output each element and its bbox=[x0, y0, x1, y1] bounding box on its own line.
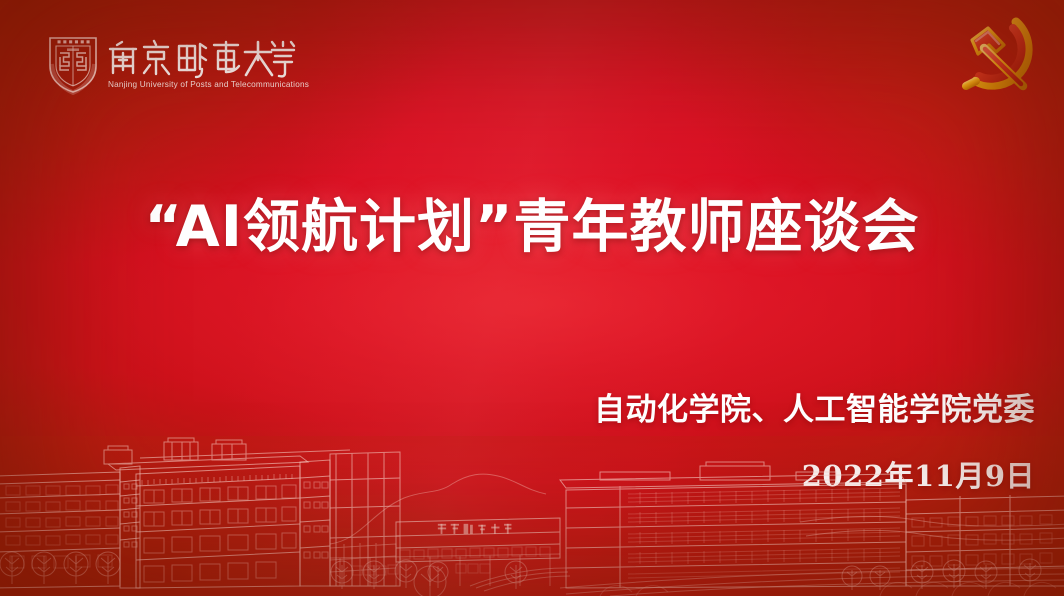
njupt-shield-crest-icon bbox=[46, 33, 100, 95]
university-logo-lockup: Nanjing University of Posts and Telecomm… bbox=[46, 33, 309, 95]
slide-credit-block: 自动化学院、人工智能学院党委 2022年11月9日 bbox=[594, 388, 1035, 497]
organizer-label: 自动化学院、人工智能学院党委 bbox=[594, 388, 1035, 432]
university-wordmark: Nanjing University of Posts and Telecomm… bbox=[108, 39, 309, 89]
cpc-hammer-sickle-emblem-icon bbox=[954, 14, 1040, 100]
event-date-label: 2022年11月9日 bbox=[594, 455, 1035, 497]
slide-main-title: “AI领航计划”青年教师座谈会 bbox=[0, 193, 1064, 261]
presentation-slide: Nanjing University of Posts and Telecomm… bbox=[0, 0, 1064, 596]
university-name-english: Nanjing University of Posts and Telecomm… bbox=[108, 81, 309, 89]
university-name-chinese bbox=[108, 39, 309, 79]
